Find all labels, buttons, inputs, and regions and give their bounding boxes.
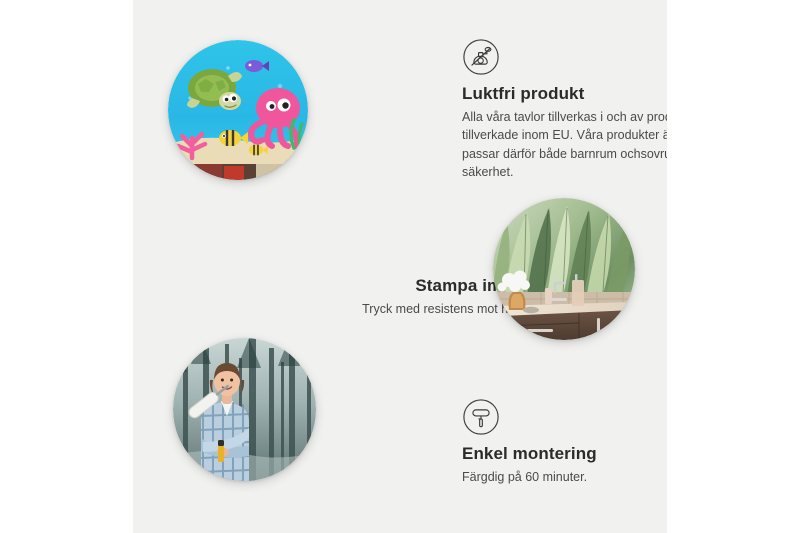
feature-assembly-title: Enkel montering [462,443,667,464]
no-odor-icon [462,38,500,76]
feature-odorless-description: Alla våra tavlor tillverkas i och av pro… [462,108,667,181]
feature-odorless: Luktfri produkt Alla våra tavlor tillver… [462,38,667,181]
feature-assembly: Enkel montering Färgdig på 60 minuter. [462,398,667,486]
bathroom-interior-photo [493,198,635,340]
promo-graphic: Luktfri produkt Alla våra tavlor tillver… [0,0,800,533]
feature-odorless-title: Luktfri produkt [462,83,667,104]
feature-assembly-description: Färgdig på 60 minuter. [462,468,667,486]
paint-roller-icon [462,398,500,436]
underwater-scene-photo [168,40,308,180]
painter-woman-photo [173,338,316,481]
content-panel: Luktfri produkt Alla våra tavlor tillver… [133,0,667,533]
